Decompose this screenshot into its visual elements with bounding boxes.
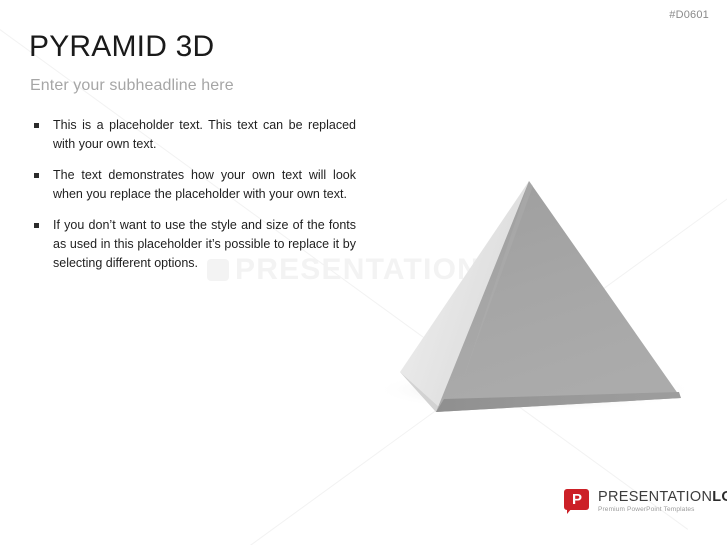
list-item[interactable]: The text demonstrates how your own text … bbox=[34, 166, 356, 204]
logo-word-primary: PRESENTATION bbox=[598, 489, 712, 505]
bullet-square-icon bbox=[34, 223, 39, 228]
slide-canvas: #D0601 PYRAMID 3D Enter your subheadline… bbox=[0, 0, 727, 545]
list-item-text: If you don’t want to use the style and s… bbox=[53, 216, 356, 273]
logo-wordmark: PRESENTATIONLOAD® bbox=[598, 490, 727, 505]
list-item-text: This is a placeholder text. This text ca… bbox=[53, 116, 356, 154]
presentationload-logo[interactable]: P PRESENTATIONLOAD® Premium PowerPoint T… bbox=[564, 489, 727, 514]
logo-text-block: PRESENTATIONLOAD® Premium PowerPoint Tem… bbox=[598, 490, 727, 513]
logo-tagline: Premium PowerPoint Templates bbox=[598, 507, 727, 514]
logo-letter: P bbox=[572, 493, 581, 507]
document-id: #D0601 bbox=[669, 9, 709, 21]
page-title: PYRAMID 3D bbox=[29, 31, 214, 63]
bullet-square-icon bbox=[34, 173, 39, 178]
list-item-text: The text demonstrates how your own text … bbox=[53, 166, 356, 204]
bullet-list: This is a placeholder text. This text ca… bbox=[34, 116, 356, 273]
list-item[interactable]: If you don’t want to use the style and s… bbox=[34, 216, 356, 273]
logo-word-bold: LOAD bbox=[712, 489, 727, 505]
logo-bubble-tail bbox=[567, 508, 572, 514]
pyramid-3d-graphic[interactable] bbox=[370, 150, 710, 440]
page-subtitle[interactable]: Enter your subheadline here bbox=[30, 77, 234, 95]
logo-speech-bubble-icon: P bbox=[564, 489, 589, 514]
list-item[interactable]: This is a placeholder text. This text ca… bbox=[34, 116, 356, 154]
bullet-square-icon bbox=[34, 123, 39, 128]
